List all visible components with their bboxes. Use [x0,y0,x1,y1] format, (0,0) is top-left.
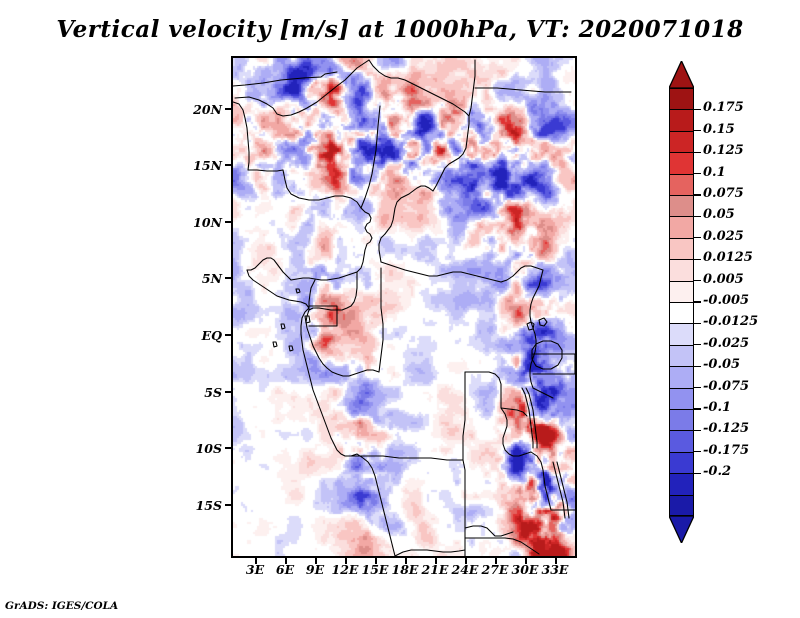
ytick-label-EQ: EQ [178,328,222,343]
colorbar-swatch [669,473,694,494]
colorbar-tick [694,216,701,217]
colorbar-tick [694,152,701,153]
colorbar-swatch [669,88,694,109]
colorbar-tick [694,323,701,324]
ytick-mark [225,334,231,336]
colorbar-swatch [669,131,694,152]
colorbar-tick [694,430,701,431]
ytick-label-10S: 10S [178,441,222,456]
ytick-label-15N: 15N [178,158,222,173]
colorbar-tick [694,237,701,238]
xtick-mark [465,558,467,564]
xtick-label-30E: 30E [509,562,541,577]
xtick-label-15E: 15E [359,562,391,577]
xtick-label-12E: 12E [329,562,361,577]
colorbar-tick [694,259,701,260]
colorbar-label: 0.0125 [703,250,753,265]
colorbar-label: -0.005 [703,293,749,308]
colorbar-swatch [669,259,694,280]
colorbar-label: 0.05 [703,207,735,222]
xtick-mark [285,558,287,564]
colorbar-label: -0.2 [703,464,731,479]
colorbar-tick [694,451,701,452]
xtick-label-21E: 21E [419,562,451,577]
colorbar-label: 0.025 [703,229,744,244]
colorbar-label: -0.0125 [703,314,758,329]
colorbar-swatch [669,281,694,302]
colorbar-extend-top-arrow [669,61,694,88]
colorbar-label: -0.1 [703,400,731,415]
colorbar-tick [694,173,701,174]
colorbar-label: 0.125 [703,143,744,158]
colorbar-swatch [669,323,694,344]
xtick-mark [495,558,497,564]
map-plot-area [231,56,577,558]
ytick-label-10N: 10N [178,215,222,230]
colorbar-label: 0.1 [703,165,726,180]
colorbar-swatch [669,345,694,366]
colorbar-swatch [669,495,694,516]
ytick-mark [225,447,231,449]
ytick-mark [225,108,231,110]
xtick-mark [525,558,527,564]
colorbar-tick [694,408,701,409]
vertical-velocity-field [233,58,575,556]
xtick-mark [405,558,407,564]
colorbar-label: -0.125 [703,421,749,436]
page-title: Vertical velocity [m/s] at 1000hPa, VT: … [0,16,800,43]
colorbar-tick [694,194,701,195]
ytick-mark [225,164,231,166]
colorbar-swatch [669,174,694,195]
ytick-mark [225,504,231,506]
colorbar-swatch [669,409,694,430]
colorbar-tick [694,130,701,131]
xtick-mark [345,558,347,564]
xtick-label-18E: 18E [389,562,421,577]
colorbar-label: 0.175 [703,100,744,115]
colorbar-swatch [669,238,694,259]
colorbar-swatch [669,152,694,173]
xtick-label-6E: 6E [270,562,300,577]
colorbar-swatch [669,195,694,216]
attribution-footer: GrADS: IGES/COLA [5,600,118,612]
ytick-mark [225,277,231,279]
ytick-label-5S: 5S [178,385,222,400]
colorbar-extend-bottom-arrow [669,516,694,543]
xtick-mark [555,558,557,564]
xtick-mark [255,558,257,564]
xtick-label-27E: 27E [479,562,511,577]
colorbar-tick [694,387,701,388]
xtick-label-33E: 33E [539,562,571,577]
colorbar-tick [694,366,701,367]
colorbar-label: -0.05 [703,357,740,372]
colorbar-label: -0.175 [703,443,749,458]
colorbar-label: 0.005 [703,272,744,287]
colorbar [669,88,694,516]
colorbar-tick [694,301,701,302]
xtick-label-24E: 24E [449,562,481,577]
colorbar-label: -0.025 [703,336,749,351]
colorbar-swatch [669,452,694,473]
colorbar-swatch [669,109,694,130]
xtick-label-3E: 3E [240,562,270,577]
ytick-label-15S: 15S [178,498,222,513]
ytick-label-20N: 20N [178,102,222,117]
colorbar-tick [694,473,701,474]
colorbar-tick [694,109,701,110]
colorbar-label: 0.15 [703,122,735,137]
colorbar-tick [694,280,701,281]
xtick-label-9E: 9E [300,562,330,577]
xtick-mark [315,558,317,564]
colorbar-tick [694,344,701,345]
xtick-mark [375,558,377,564]
ytick-mark [225,221,231,223]
xtick-mark [435,558,437,564]
colorbar-swatch [669,302,694,323]
colorbar-swatch [669,430,694,451]
colorbar-swatch [669,388,694,409]
colorbar-label: -0.075 [703,379,749,394]
colorbar-swatch [669,366,694,387]
colorbar-swatch [669,216,694,237]
ytick-mark [225,391,231,393]
ytick-label-5N: 5N [178,271,222,286]
colorbar-label: 0.075 [703,186,744,201]
